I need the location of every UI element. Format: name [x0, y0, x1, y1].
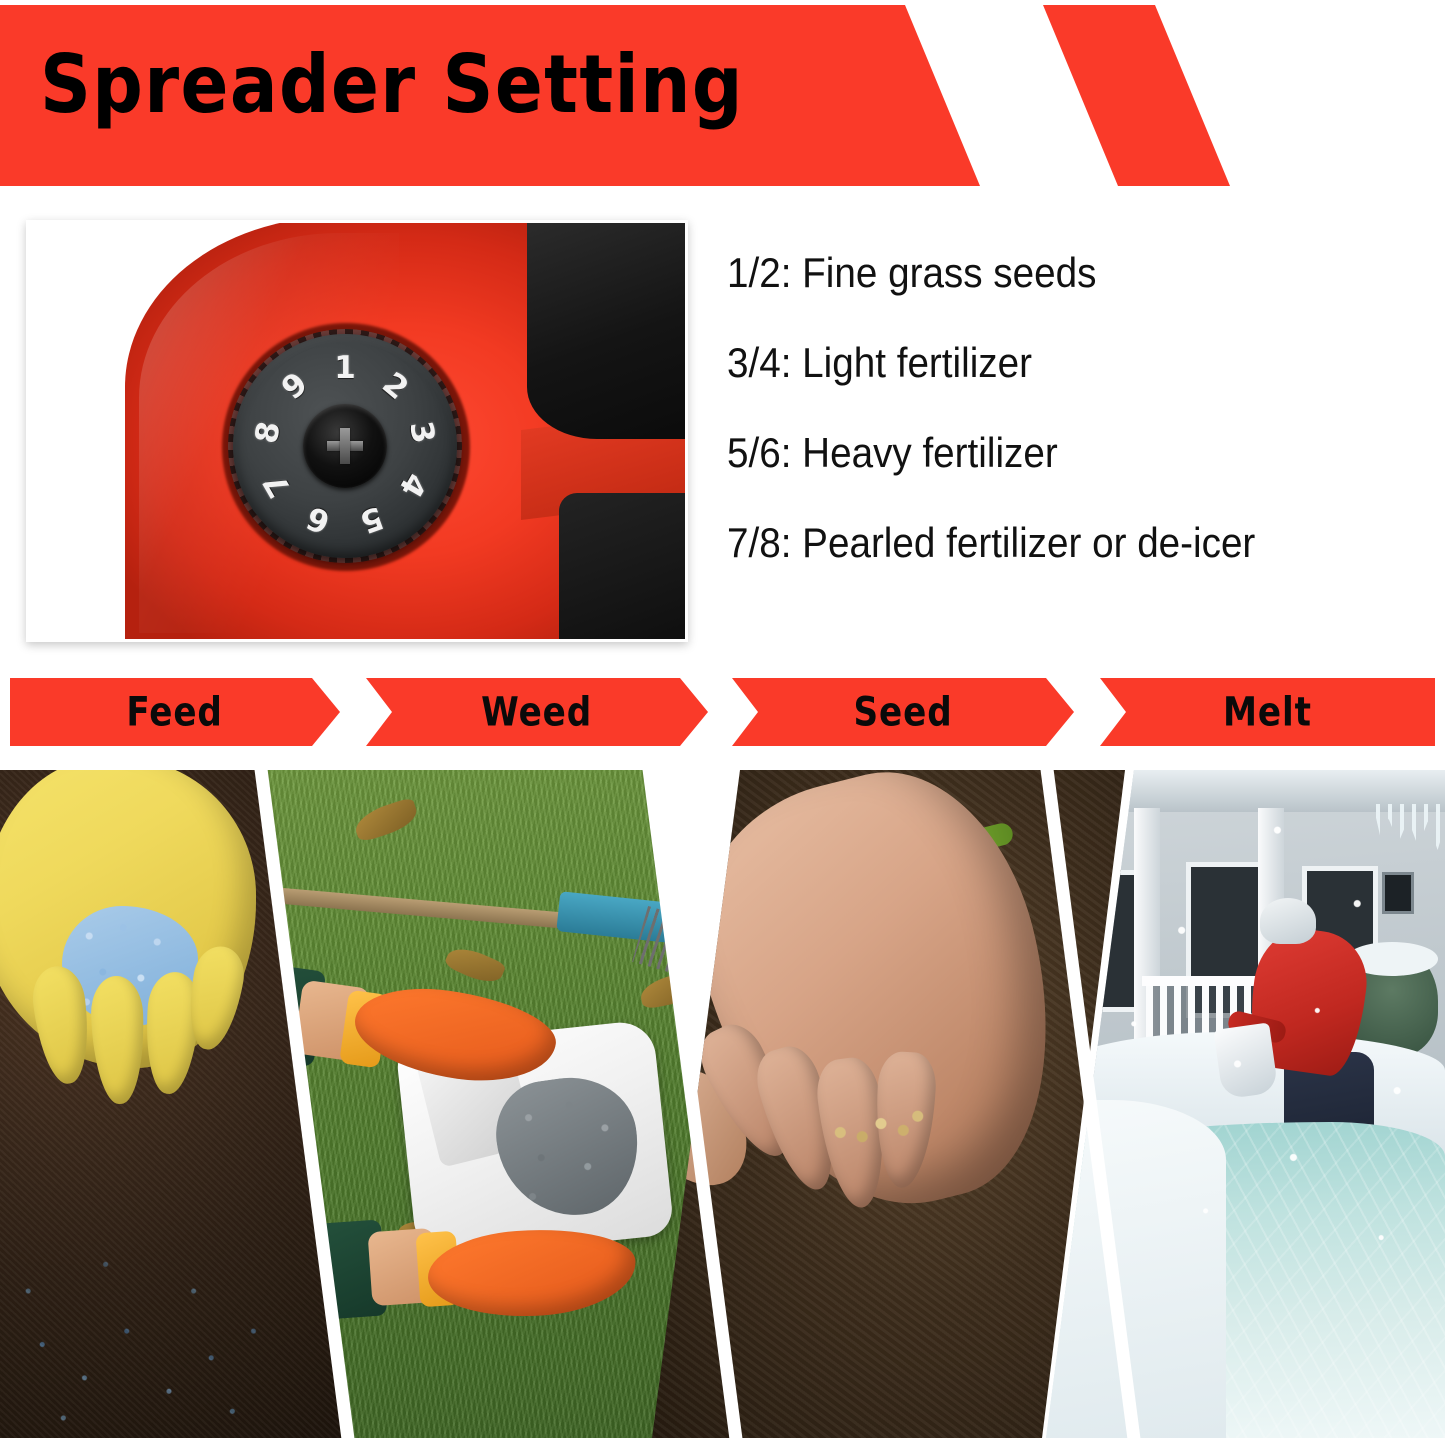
category-label-seed: Seed: [853, 689, 952, 735]
setting-line-1: 1/2: Fine grass seeds: [727, 252, 1371, 294]
setting-line-4: 7/8: Pearled fertilizer or de-icer: [727, 522, 1371, 564]
spreader-setting-list: 1/2: Fine grass seeds 3/4: Light fertili…: [727, 252, 1427, 612]
dial-number-8: 8: [248, 413, 287, 452]
category-label-weed: Weed: [482, 689, 593, 735]
category-banner-row: Feed Weed Seed Melt: [0, 678, 1445, 750]
dial-number-7: 7: [254, 462, 300, 508]
phillips-screw-icon: [325, 426, 365, 466]
dial-number-5: 5: [350, 498, 394, 542]
dial-number-9: 9: [271, 362, 319, 410]
category-banner-feed[interactable]: Feed: [10, 678, 340, 746]
category-label-melt: Melt: [1223, 689, 1312, 735]
spreader-dial-photo-card: 1 2 3 4 5 6 7 8 9: [26, 220, 688, 642]
dial-center-hub: [303, 404, 387, 488]
dial-number-3: 3: [402, 413, 441, 452]
category-label-feed: Feed: [127, 689, 223, 735]
spreader-dark-panel-bottom: [559, 493, 685, 639]
melt-person-hat: [1260, 898, 1316, 944]
dial-number-4: 4: [389, 462, 435, 508]
dial-number-6: 6: [297, 498, 341, 542]
header-banner: Spreader Setting: [0, 0, 1445, 195]
page-title: Spreader Setting: [40, 44, 744, 125]
spreader-dark-panel-top: [527, 223, 685, 439]
melt-lantern: [1382, 872, 1414, 914]
dial-number-2: 2: [371, 362, 419, 410]
dial-number-ring: 1 2 3 4 5 6 7 8 9: [233, 334, 457, 558]
setting-line-3: 5/6: Heavy fertilizer: [727, 432, 1371, 474]
dial-number-1: 1: [328, 351, 362, 385]
category-banner-melt[interactable]: Melt: [1100, 678, 1435, 746]
spreader-dial-photo: 1 2 3 4 5 6 7 8 9: [29, 223, 685, 639]
category-banner-seed[interactable]: Seed: [732, 678, 1074, 746]
category-photo-strip: [0, 770, 1445, 1438]
setting-line-2: 3/4: Light fertilizer: [727, 342, 1371, 384]
category-banner-weed[interactable]: Weed: [366, 678, 708, 746]
